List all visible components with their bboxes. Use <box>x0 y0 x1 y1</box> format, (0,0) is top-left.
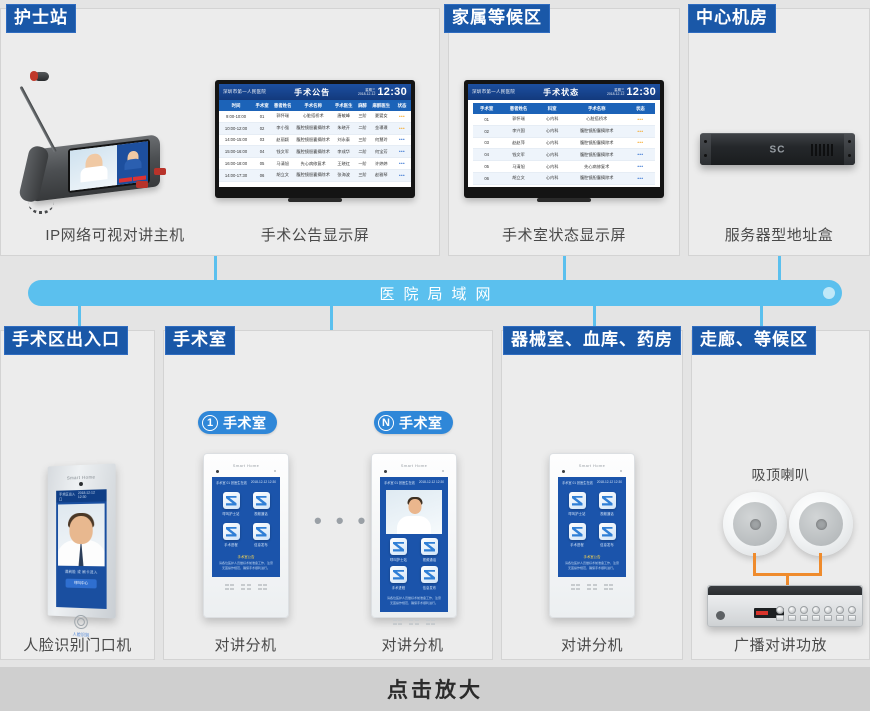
app-label: 手术进程 <box>387 585 410 590</box>
app-label: 视频通话 <box>418 557 441 562</box>
announcement-title: 手术公告 <box>266 87 358 98</box>
ext-app-0[interactable]: 呼叫护士站 <box>567 492 587 516</box>
tv-bezel-announcement: 深圳市第一人民医院 手术公告 星期三 2018-12-12 12:30 时间手术… <box>215 80 415 198</box>
status-date: 2018-12-12 <box>607 92 624 96</box>
caption-extension-supply: 对讲分机 <box>501 634 683 655</box>
caption-address-box: 服务器型地址盒 <box>688 224 870 245</box>
microphone-arm <box>19 86 56 153</box>
ext1-indicators <box>212 470 280 473</box>
status-datetime: 星期三 2018-12-12 12:30 <box>607 86 656 98</box>
ext1-app-grid: 呼叫护士站视频通话手术进程信息发布 <box>215 488 277 549</box>
exts-screen: 手术室 01 张医生在线 2018-12-12 12:30 呼叫护士站视频通话手… <box>558 477 626 577</box>
caller-avatar <box>85 153 102 177</box>
door-screen-topbar: 手术区出入口 2018-12-12 12:30 <box>56 489 106 502</box>
ext-app-3[interactable]: 信息发布 <box>418 566 441 590</box>
announcement-col-6: 麻醉医生 <box>370 100 393 111</box>
intercom-extension-orn: Smart Home 手术室 01 张医生在线 2018-12-12 12:30… <box>371 453 457 618</box>
ext-app-2[interactable]: 手术进程 <box>387 566 410 590</box>
exts-indicators <box>558 470 626 473</box>
tv-stand-status <box>537 198 591 202</box>
status-table-header: 手术室患者姓名科室手术名称状态 <box>473 103 655 114</box>
status-row: 03赵赵萍心内科腹腔镜胆囊摘除术••• <box>473 137 655 149</box>
rack-vents <box>811 144 833 156</box>
announcement-date: 2018-12-12 <box>358 92 375 96</box>
ext1-datetime: 2018-12-12 12:30 <box>251 480 276 485</box>
status-col-1: 患者姓名 <box>500 103 536 114</box>
announcement-row: 15:00-16:0004钱文军腹腔镜胆囊摘除术李成华二阶何宝芳••• <box>219 146 411 158</box>
caption-amplifier: 广播对讲功放 <box>691 634 870 655</box>
exts-app-grid: 呼叫护士站视频通话手术进程信息发布 <box>561 488 623 549</box>
announcement-col-4: 手术医生 <box>332 100 355 111</box>
diagram-canvas: 护士站 家属等候区 中心机房 IP网络可视对讲主机 <box>0 0 870 711</box>
or-number-1: 1 <box>202 415 218 431</box>
status-row: 06胡立文心内科腹腔镜胆囊摘除术••• <box>473 172 655 184</box>
status-indicator: ••• <box>399 173 405 178</box>
console-video-side <box>117 141 148 185</box>
extn-datetime: 2018-12-12 12:30 <box>419 480 444 485</box>
app-label: 呼叫护士站 <box>221 511 241 516</box>
door-call-button[interactable]: 呼叫中心 <box>66 579 96 589</box>
ext1-keys[interactable] <box>212 584 280 590</box>
extn-app-grid: 呼叫护士站视频通话手术进程信息发布 <box>383 534 445 594</box>
status-indicator: ••• <box>399 114 405 119</box>
caption-status-display: 手术室状态显示屏 <box>464 224 664 245</box>
caption-intercom-host: IP网络可视对讲主机 <box>0 224 230 245</box>
announcement-clock: 12:30 <box>377 86 407 98</box>
fingerprint-icon[interactable] <box>74 615 88 630</box>
app-label: 信息发布 <box>418 585 441 590</box>
exts-notice-body: 请各位医护人员做好术前准备工作，注意无菌操作规范，确保手术顺利进行。 <box>561 559 623 574</box>
door-location-label: 手术区出入口 <box>59 491 78 501</box>
app-label: 手术进程 <box>567 542 587 547</box>
rack-logo: SC <box>770 144 786 155</box>
ext-app-3[interactable]: 信息发布 <box>251 523 271 547</box>
connector-family-waiting <box>563 256 566 282</box>
exts-brand: Smart Home <box>558 463 626 468</box>
status-header: 深圳市第一人民医院 手术状态 星期三 2018-12-12 12:30 <box>468 84 660 100</box>
zone-label-corridor-waiting: 走廊、等候区 <box>692 326 816 355</box>
announcement-table-header: 时间手术室患者姓名手术名称手术医生麻醉麻醉医生状态 <box>219 100 411 111</box>
speaker-center-left <box>750 519 761 530</box>
or-ellipsis: • • • <box>314 508 369 534</box>
or-label-1: 手术室 <box>223 413 267 433</box>
connector-operating-room <box>330 306 333 330</box>
amplifier-zone-buttons[interactable] <box>776 615 856 621</box>
ext1-topbar: 手术室 01 张医生在线 2018-12-12 12:30 <box>215 480 277 488</box>
speaker-wire-left-vertical <box>753 553 756 575</box>
app-icon <box>253 523 270 540</box>
status-row: 02李兴国心内科腹腔镜胆囊摘除术••• <box>473 125 655 137</box>
console-side-button-2 <box>136 181 148 188</box>
panel-central-room <box>688 8 870 256</box>
app-label: 呼叫护士站 <box>387 557 410 562</box>
extn-brand: Smart Home <box>380 463 448 468</box>
ceiling-speaker-right <box>789 492 853 556</box>
zone-label-central-room: 中心机房 <box>688 4 776 33</box>
tv-bezel-status: 深圳市第一人民医院 手术状态 星期三 2018-12-12 12:30 手术室患… <box>464 80 664 198</box>
status-title: 手术状态 <box>515 87 607 98</box>
caption-door-station: 人脸识别门口机 <box>0 634 155 655</box>
door-datetime: 2018-12-12 12:30 <box>78 490 104 501</box>
door-screen: 手术区出入口 2018-12-12 12:30 请刷脸 或 刷卡进入 呼叫中心 <box>56 489 106 609</box>
ext-app-0[interactable]: 呼叫护士站 <box>387 538 410 562</box>
extn-notice-body: 请各位医护人员做好术前准备工作，注意无菌操作规范，确保手术顺利进行。 <box>383 594 445 609</box>
extn-keys[interactable] <box>380 619 448 625</box>
lan-endpoint-knob <box>823 287 835 299</box>
status-table: 手术室患者姓名科室手术名称状态 01郭怀瑞心内科心脏搭桥术•••02李兴国心内科… <box>473 103 655 185</box>
status-indicator: ••• <box>637 129 643 134</box>
announcement-row: 16:00-18:0005马清旭先心病修复术王晓红一阶许婷婷••• <box>219 158 411 170</box>
ext1-notice-body: 请各位医护人员做好术前准备工作，注意无菌操作规范，确保手术顺利进行。 <box>215 559 277 574</box>
status-col-0: 手术室 <box>473 103 500 114</box>
face-recognition-door-station: Smart Home 手术区出入口 2018-12-12 12:30 请刷脸 或… <box>48 463 116 618</box>
app-icon <box>253 492 270 509</box>
ext-app-2[interactable]: 手术进程 <box>221 523 241 547</box>
exts-keys[interactable] <box>558 584 626 590</box>
speaker-center-right <box>816 519 827 530</box>
zone-label-operating-room: 手术室 <box>165 326 235 355</box>
app-icon <box>599 492 616 509</box>
ext-app-0[interactable]: 呼叫护士站 <box>221 492 241 516</box>
status-indicator: ••• <box>637 176 643 181</box>
or-badge-nth: N 手术室 <box>374 411 453 434</box>
announcement-row: 9:00-10:0001郭怀瑞心脏搭桥术唐敏峰三阶夏婴女••• <box>219 111 411 122</box>
rack-ear-right <box>844 134 855 165</box>
announcement-row: 14:00-17:3006胡立文腹腔镜胆囊摘除术张海波三阶赵雅琴••• <box>219 169 411 181</box>
zone-label-family-waiting: 家属等候区 <box>444 4 550 33</box>
announcement-col-1: 手术室 <box>253 100 271 111</box>
or-number-n: N <box>378 415 394 431</box>
intercom-extension-or1: Smart Home 手术室 01 张医生在线 2018-12-12 12:30… <box>203 453 289 618</box>
status-col-3: 手术名称 <box>568 103 626 114</box>
app-label: 呼叫护士站 <box>567 511 587 516</box>
speaker-cone-left <box>733 502 777 546</box>
caption-extension-orn: 对讲分机 <box>330 634 495 655</box>
app-icon <box>569 523 586 540</box>
status-col-4: 状态 <box>626 103 655 114</box>
status-indicator: ••• <box>637 164 643 169</box>
microphone-tip <box>30 71 38 81</box>
app-icon <box>599 523 616 540</box>
status-col-2: 科室 <box>537 103 568 114</box>
status-indicator: ••• <box>399 161 405 166</box>
amplifier-mic-jack <box>716 611 725 620</box>
status-indicator: ••• <box>637 140 643 145</box>
speaker-wire-right-vertical <box>819 553 822 575</box>
announcement-header: 深圳市第一人民医院 手术公告 星期三 2018-12-12 12:30 <box>219 84 411 100</box>
app-label: 手术进程 <box>221 542 241 547</box>
status-indicator: ••• <box>637 152 643 157</box>
broadcast-amplifier <box>707 585 863 627</box>
ext-app-1[interactable]: 视频通话 <box>597 492 617 516</box>
app-icon <box>390 538 407 555</box>
status-indicator: ••• <box>399 126 405 131</box>
ip-intercom-host <box>10 50 200 210</box>
ext1-brand: Smart Home <box>212 463 280 468</box>
lan-label: 医院局域网 <box>370 283 499 304</box>
announcement-display: 深圳市第一人民医院 手术公告 星期三 2018-12-12 12:30 时间手术… <box>215 80 415 205</box>
announcement-hospital-name: 深圳市第一人民医院 <box>223 89 266 95</box>
amplifier-top-panel <box>708 586 862 595</box>
zone-label-supply-rooms: 器械室、血库、药房 <box>503 326 681 355</box>
or-label-n: 手术室 <box>399 413 443 433</box>
announcement-col-7: 状态 <box>393 100 411 111</box>
app-icon <box>569 492 586 509</box>
hospital-lan-bar: 医院局域网 <box>28 280 842 306</box>
status-screen: 深圳市第一人民医院 手术状态 星期三 2018-12-12 12:30 手术室患… <box>468 84 660 187</box>
app-icon <box>421 538 438 555</box>
extn-video-call <box>386 490 442 534</box>
app-icon <box>390 566 407 583</box>
announcement-col-2: 患者姓名 <box>271 100 294 111</box>
caption-announcement-display: 手术公告显示屏 <box>215 224 415 245</box>
console-video-main <box>70 145 117 191</box>
visitor-photo <box>58 503 105 566</box>
or-badge-first: 1 手术室 <box>198 411 277 434</box>
status-row: 01郭怀瑞心内科心脏搭桥术••• <box>473 114 655 125</box>
ext-app-1[interactable]: 视频通话 <box>251 492 271 516</box>
status-indicator: ••• <box>637 117 643 122</box>
app-label: 视频通话 <box>597 511 617 516</box>
console-side-button-1 <box>154 168 166 175</box>
status-hospital-name: 深圳市第一人民医院 <box>472 89 515 95</box>
announcement-table: 时间手术室患者姓名手术名称手术医生麻醉麻醉医生状态 9:00-10:0001郭怀… <box>219 100 411 182</box>
connector-central-room <box>778 256 781 282</box>
intercom-extension-supply: Smart Home 手术室 01 张医生在线 2018-12-12 12:30… <box>549 453 635 618</box>
app-icon <box>421 566 438 583</box>
app-icon <box>223 523 240 540</box>
door-brand-label: Smart Home <box>56 474 106 481</box>
connector-nurse-station <box>214 256 217 282</box>
extn-screen: 手术室 01 张医生在线 2018-12-12 12:30 呼叫护士站视频通话手… <box>380 477 448 612</box>
camera-icon <box>79 482 83 486</box>
announcement-datetime: 星期三 2018-12-12 12:30 <box>358 86 407 98</box>
callee-avatar <box>127 151 138 166</box>
status-indicator: ••• <box>399 137 405 142</box>
zone-label-or-entrance: 手术区出入口 <box>4 326 128 355</box>
status-indicator: ••• <box>399 149 405 154</box>
exts-location: 手术室 01 张医生在线 <box>562 480 593 485</box>
extn-indicators <box>380 470 448 473</box>
status-row: 05马清旭心内科先心病修复术••• <box>473 161 655 173</box>
announcement-col-0: 时间 <box>219 100 253 111</box>
caption-extension-or1: 对讲分机 <box>163 634 328 655</box>
announcement-row: 10:00-12:0002李小强腹腔镜胆囊摘除术朱晓开二阶金璟璟••• <box>219 122 411 134</box>
extn-topbar: 手术室 01 张医生在线 2018-12-12 12:30 <box>383 480 445 488</box>
exts-topbar: 手术室 01 张医生在线 2018-12-12 12:30 <box>561 480 623 488</box>
status-clock: 12:30 <box>626 86 656 98</box>
status-row: 04钱文军心内科腹腔镜胆囊摘除术••• <box>473 149 655 161</box>
tv-stand-announcement <box>288 198 342 202</box>
app-icon <box>223 492 240 509</box>
exts-datetime: 2018-12-12 12:30 <box>597 480 622 485</box>
ext1-screen: 手术室 01 张医生在线 2018-12-12 12:30 呼叫护士站视频通话手… <box>212 477 280 577</box>
extn-location: 手术室 01 张医生在线 <box>384 480 415 485</box>
announcement-col-5: 麻醉 <box>355 100 369 111</box>
ceiling-speaker-left <box>723 492 787 556</box>
ext-app-2[interactable]: 手术进程 <box>567 523 587 547</box>
ext-app-1[interactable]: 视频通话 <box>418 538 441 562</box>
announcement-row: 14:00-15:0003赵丽颖腹腔镜胆囊摘除术刘永泰三阶何慧玲••• <box>219 134 411 146</box>
status-display: 深圳市第一人民医院 手术状态 星期三 2018-12-12 12:30 手术室患… <box>464 80 664 205</box>
announcement-screen: 深圳市第一人民医院 手术公告 星期三 2018-12-12 12:30 时间手术… <box>219 84 411 187</box>
door-info-text: 请刷脸 或 刷卡进入 <box>56 570 106 576</box>
zone-label-nurse-station: 护士站 <box>6 4 76 33</box>
zoom-hint-bar[interactable]: 点击放大 <box>0 667 870 711</box>
ceiling-speaker-title: 吸顶喇叭 <box>691 465 870 485</box>
amplifier-volume-knobs[interactable] <box>776 606 856 614</box>
speaker-cone-right <box>799 502 843 546</box>
ext1-location: 手术室 01 张医生在线 <box>216 480 247 485</box>
ext-app-3[interactable]: 信息发布 <box>597 523 617 547</box>
rack-ear-left <box>700 134 711 165</box>
app-label: 信息发布 <box>251 542 271 547</box>
app-label: 视频通话 <box>251 511 271 516</box>
announcement-col-3: 手术名称 <box>294 100 332 111</box>
app-label: 信息发布 <box>597 542 617 547</box>
server-address-box: SC <box>700 133 855 165</box>
zoom-hint-text: 点击放大 <box>387 674 483 704</box>
